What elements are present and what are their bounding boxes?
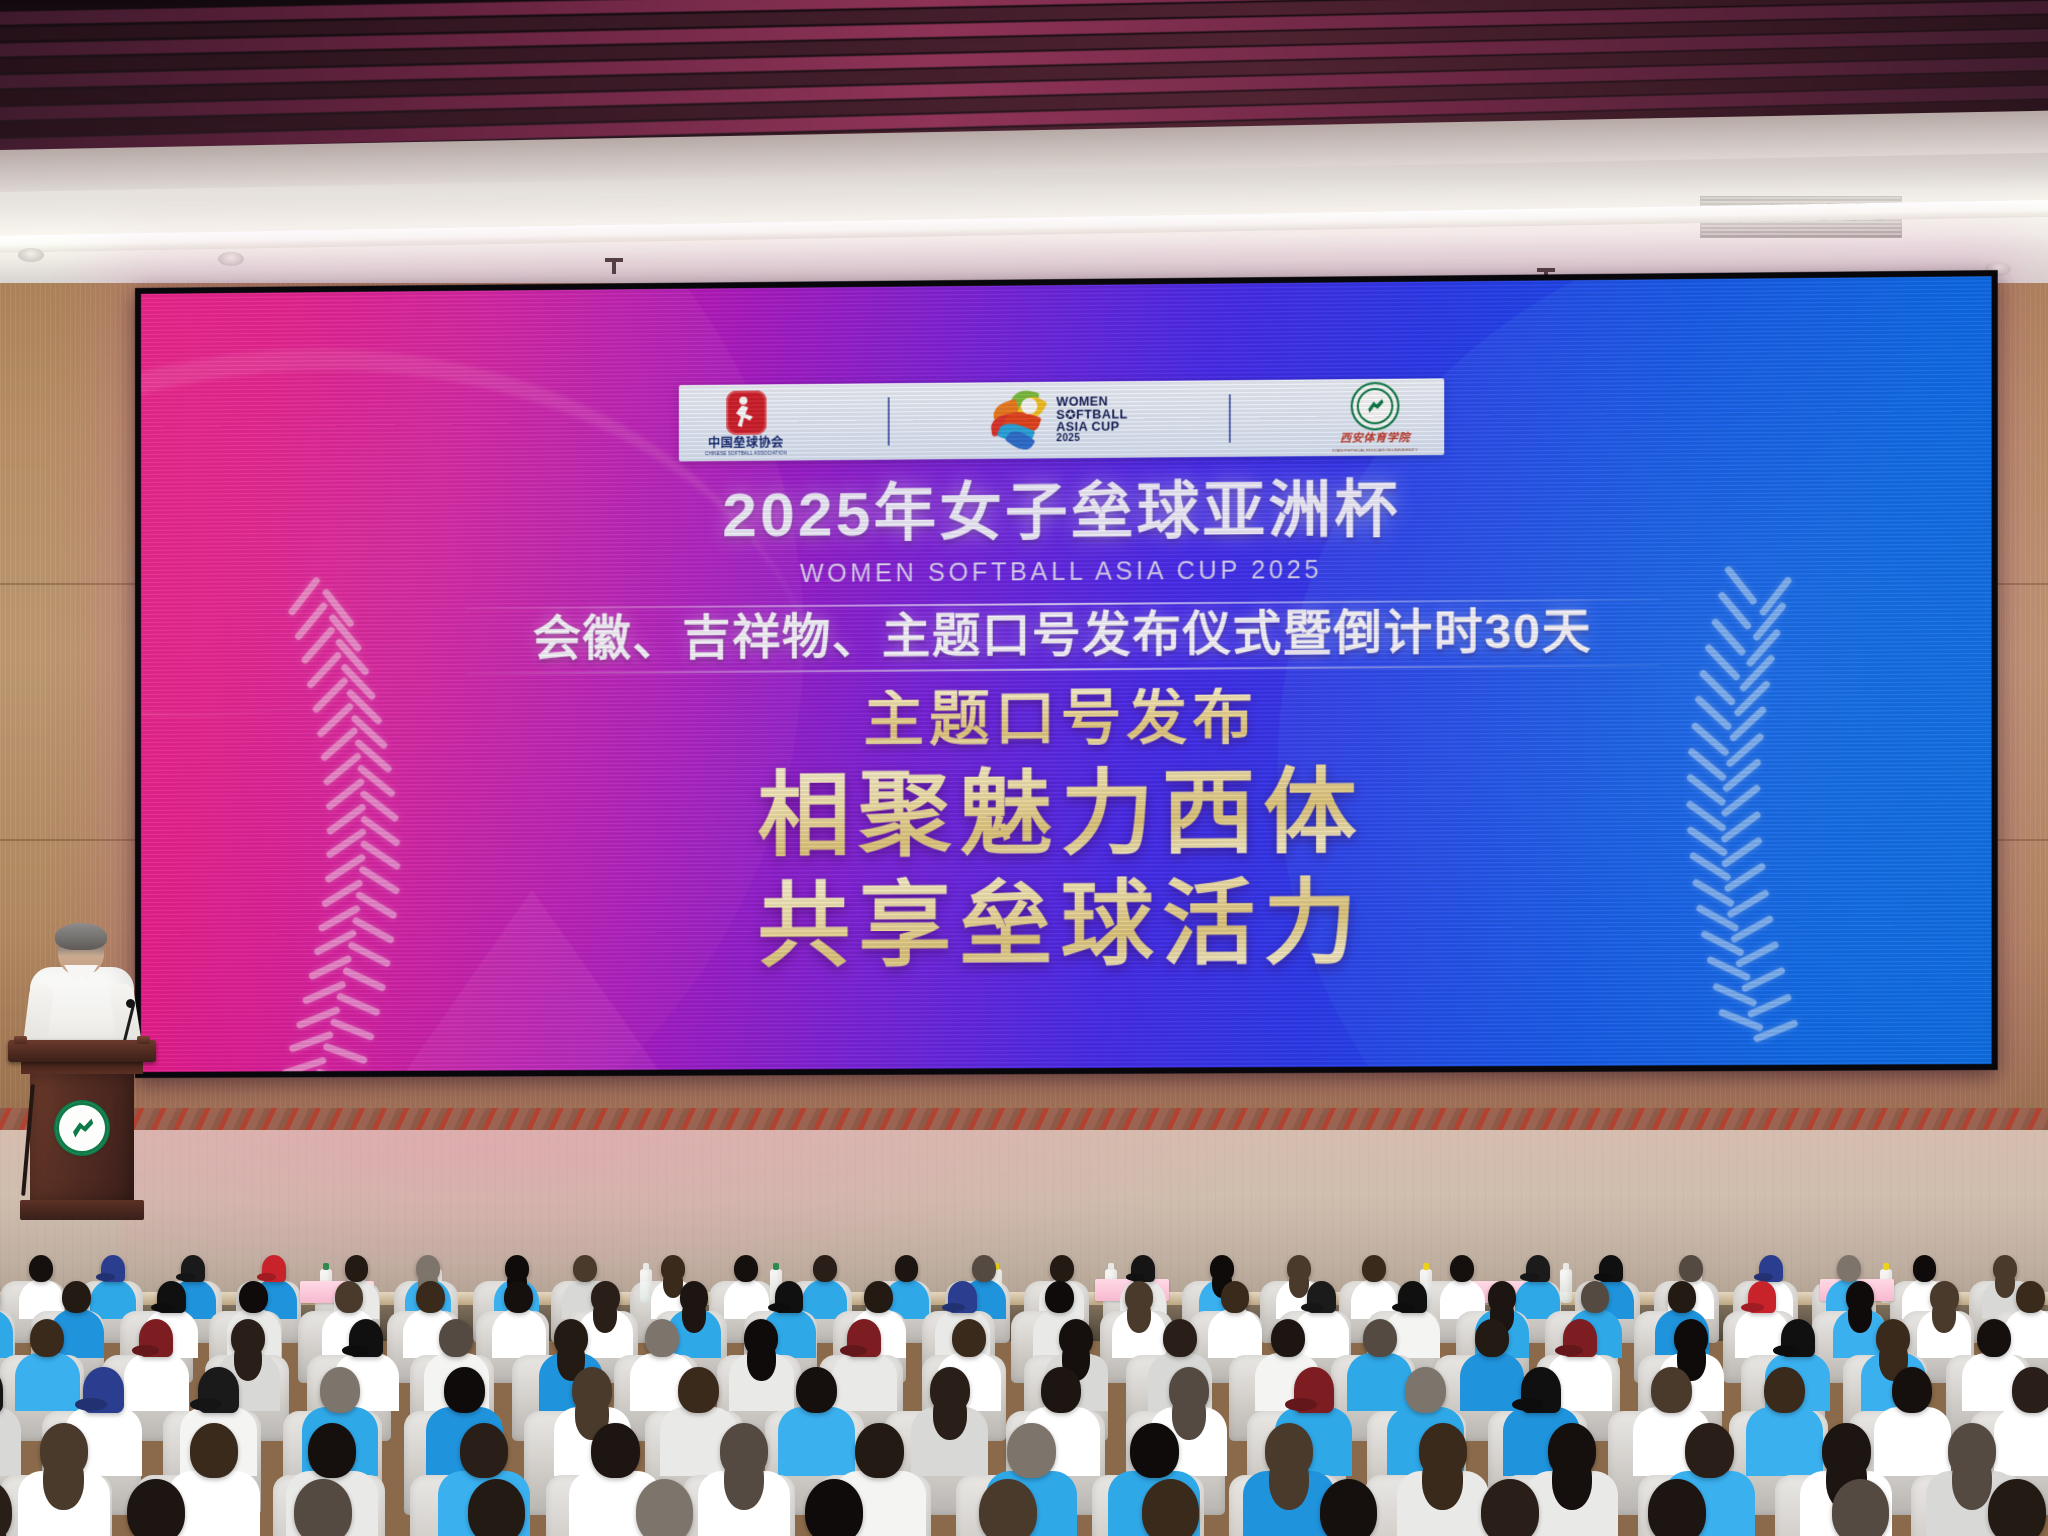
audience-member-head: [1271, 1319, 1305, 1357]
audience-member-cap: [847, 1319, 881, 1357]
event-title-cn: 2025年女子垒球亚洲杯: [722, 480, 1400, 548]
logo-host-institute: 西安体育学院 XI'AN PHYSICAL EDUCATION UNIVERSI…: [1332, 382, 1418, 453]
logo-chinese-softball-association: 中国垒球协会 CHINESE SOFTBALL ASSOCIATION: [705, 390, 787, 456]
audience-member-head: [1475, 1319, 1509, 1357]
led-content: 中国垒球协会 CHINESE SOFTBALL ASSOCIATION: [141, 276, 1992, 1072]
audience-member-cap: [1521, 1367, 1561, 1413]
audience-member-head: [190, 1423, 238, 1478]
audience-member-torso: [778, 1407, 855, 1476]
logo-women-softball-asia-cup: WOMEN S✪FTBALL ASIA CUP 2025: [990, 389, 1127, 451]
audience-member-head: [1581, 1281, 1610, 1313]
downlight-icon: [18, 248, 44, 262]
audience-member-head: [805, 1479, 863, 1536]
audience-member-head: [1685, 1423, 1733, 1478]
audience-member-head: [1050, 1255, 1074, 1282]
audience-member-head: [29, 1255, 53, 1282]
audience-member-torso: [492, 1309, 546, 1357]
audience-member-head: [813, 1255, 837, 1282]
logo-divider: [888, 397, 890, 445]
audience-member-torso: [1994, 1407, 2048, 1476]
podium-base: [20, 1200, 144, 1220]
podium: [8, 1040, 156, 1220]
audience-member-hair: [724, 1453, 765, 1510]
cup-line-4: 2025: [1056, 434, 1128, 445]
audience-member-cap: [1398, 1281, 1427, 1313]
audience-member-head: [460, 1423, 508, 1478]
audience-member-torso: [1347, 1353, 1412, 1411]
audience-member-head: [1913, 1255, 1937, 1282]
audience-member-head: [127, 1479, 185, 1536]
led-screen: 中国垒球协会 CHINESE SOFTBALL ASSOCIATION: [135, 270, 1998, 1078]
audience-member-head: [320, 1367, 360, 1413]
audience-member-head: [796, 1367, 836, 1413]
event-subtitle-block: 会徽、吉祥物、主题口号发布仪式暨倒计时30天: [466, 599, 1661, 675]
audience-member-hair: [1952, 1453, 1993, 1510]
audience-member-head: [1405, 1367, 1445, 1413]
audience-member-hair: [1289, 1270, 1309, 1298]
audience-member-hair: [682, 1299, 706, 1333]
audience-member-cap: [1781, 1319, 1815, 1357]
logo-divider: [1229, 394, 1231, 442]
audience-member-hair: [234, 1340, 263, 1380]
audience-member-head: [1041, 1367, 1081, 1413]
audience-member-torso: [1874, 1407, 1951, 1476]
audience-member-torso: [124, 1353, 189, 1411]
audience-member-cap: [157, 1281, 186, 1313]
microphone-head-icon: [126, 999, 135, 1008]
audience-member-head: [1221, 1281, 1250, 1313]
audience-member-cap: [198, 1367, 238, 1413]
audience-member-head: [30, 1319, 64, 1357]
audience-member-head: [1837, 1255, 1861, 1282]
audience-member-hair: [593, 1299, 617, 1333]
audience-member-head: [645, 1319, 679, 1357]
audience-member-head: [734, 1255, 758, 1282]
audience-member-head: [1320, 1479, 1378, 1536]
audience-member-cap: [1563, 1319, 1597, 1357]
audience-member-head: [294, 1479, 352, 1536]
audience-member-cap: [1307, 1281, 1336, 1313]
audience-member-head: [972, 1255, 996, 1282]
audience-member-head: [345, 1255, 369, 1282]
audience-member-head: [1977, 1319, 2011, 1357]
csa-name-cn: 中国垒球协会: [708, 436, 784, 449]
audience-member-head: [439, 1319, 473, 1357]
audience-member-torso: [15, 1353, 80, 1411]
audience-member-torso: [832, 1353, 897, 1411]
audience-member-head: [1362, 1255, 1386, 1282]
audience-member-head: [504, 1281, 533, 1313]
audience-member-torso: [1208, 1309, 1262, 1357]
audience-member-hair: [43, 1453, 84, 1510]
event-title-en: WOMEN SOFTBALL ASIA CUP 2025: [800, 556, 1323, 589]
audience-member-hair: [1172, 1392, 1206, 1440]
audience-member-hair: [1552, 1453, 1593, 1510]
rule-bottom: [466, 665, 1661, 675]
audience-member-head: [1363, 1319, 1397, 1357]
audience-member-head: [952, 1319, 986, 1357]
audience-member-cap: [1759, 1255, 1783, 1282]
audience-member-cap: [1748, 1281, 1777, 1313]
audience-member-hair: [747, 1340, 776, 1380]
podium-top: [8, 1040, 156, 1062]
audience-member-cap: [775, 1281, 804, 1313]
slogan-line-2: 共享垒球活力: [757, 870, 1364, 982]
audience-member-cap: [181, 1255, 205, 1282]
podium-neck: [21, 1062, 143, 1074]
audience-member-head: [1668, 1281, 1697, 1313]
audience-member-head: [1481, 1479, 1539, 1536]
water-bottle: [1560, 1269, 1572, 1303]
audience-member-cap: [139, 1319, 173, 1357]
asia-cup-emblem-icon: [990, 390, 1049, 451]
softball-player-icon: [726, 390, 766, 435]
screenshot-root: 中国垒球协会 CHINESE SOFTBALL ASSOCIATION: [0, 0, 2048, 1536]
audience-member-head: [2016, 1281, 2045, 1313]
audience-member-hair: [1422, 1453, 1463, 1510]
audience-member-hair: [1269, 1453, 1310, 1510]
audience-member-head: [2012, 1367, 2048, 1413]
audience-member-head: [1450, 1255, 1474, 1282]
audience-member-head: [591, 1423, 639, 1478]
audience-member-cap: [1599, 1255, 1623, 1282]
audience-member-head: [416, 1281, 445, 1313]
audience-member-hair: [933, 1392, 967, 1440]
institute-name-en: XI'AN PHYSICAL EDUCATION UNIVERSITY: [1332, 447, 1418, 453]
audience-member-head: [1651, 1367, 1691, 1413]
audience-member-head: [1130, 1423, 1178, 1478]
audience-member-head: [636, 1479, 694, 1536]
audience-member-head: [573, 1255, 597, 1282]
audience-member-head: [1988, 1479, 2046, 1536]
audience-member-cap: [1131, 1255, 1155, 1282]
audience-member-head: [308, 1423, 356, 1478]
slogan-line-1: 相聚魅力西体: [757, 760, 1364, 872]
audience-member-cap: [262, 1255, 286, 1282]
audience-member-hair: [1127, 1299, 1151, 1333]
audience-member-head: [1679, 1255, 1703, 1282]
audience-member-head: [1163, 1319, 1197, 1357]
audience-member-head: [1764, 1367, 1804, 1413]
audience-member-cap: [83, 1367, 123, 1413]
audience-member-torso: [1746, 1407, 1823, 1476]
audience-member-head: [1832, 1479, 1890, 1536]
audience-member-hair: [1848, 1299, 1872, 1333]
audience-member-head: [444, 1367, 484, 1413]
logo-bar: 中国垒球协会 CHINESE SOFTBALL ASSOCIATION: [679, 378, 1444, 461]
event-subtitle-cn: 会徽、吉祥物、主题口号发布仪式暨倒计时30天: [533, 607, 1592, 665]
audience-member-head: [239, 1281, 268, 1313]
audience-member-head: [1142, 1479, 1200, 1536]
audience-member-head: [855, 1423, 903, 1478]
csa-name-en: CHINESE SOFTBALL ASSOCIATION: [705, 450, 787, 456]
led-screen-surface: 中国垒球协会 CHINESE SOFTBALL ASSOCIATION: [141, 276, 1992, 1072]
institute-seal-icon: [1351, 382, 1400, 431]
audience-member-head: [678, 1367, 718, 1413]
audience-member-cap: [349, 1319, 383, 1357]
audience: [0, 1255, 2048, 1536]
audience-member-cap: [101, 1255, 125, 1282]
ceiling-hanger: [612, 258, 616, 274]
audience-member-head: [1007, 1423, 1055, 1478]
institute-name-cn: 西安体育学院: [1340, 433, 1410, 445]
audience-member-cap: [1294, 1367, 1334, 1413]
audience-member-hair: [1932, 1299, 1956, 1333]
podium-emblem-icon: [56, 1102, 108, 1154]
audience-member-hair: [1995, 1270, 2015, 1298]
section-heading: 主题口号发布: [863, 688, 1258, 751]
audience-member-head: [864, 1281, 893, 1313]
downlight-icon: [218, 252, 244, 266]
audience-member-head: [1045, 1281, 1074, 1313]
audience-member-head: [979, 1479, 1037, 1536]
audience-member-head: [62, 1281, 91, 1313]
audience-member-head: [335, 1281, 364, 1313]
audience-member-cap: [1526, 1255, 1550, 1282]
speaker-hair: [55, 923, 107, 950]
audience-member-head: [895, 1255, 919, 1282]
audience-member-head: [1892, 1367, 1932, 1413]
audience-member-head: [1648, 1479, 1706, 1536]
audience-member-cap: [948, 1281, 977, 1313]
